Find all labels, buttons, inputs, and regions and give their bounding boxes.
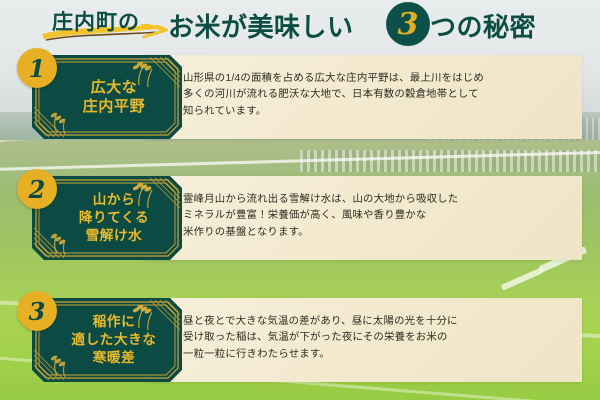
poster-header: 庄内町の お米が美味しい 3 つの秘密 bbox=[0, 0, 600, 52]
headline-tail: つの秘密 bbox=[430, 7, 536, 44]
secret-number-badge-3: 3 bbox=[17, 291, 57, 331]
secret-body-1: 山形県の1/4の面積を占める広大な庄内平野は、最上川をはじめ 多くの河川が流れる… bbox=[183, 71, 575, 120]
secret-count-badge: 3 bbox=[386, 2, 430, 46]
town-label: 庄内町の bbox=[52, 6, 140, 36]
secret-number-badge-1: 1 bbox=[17, 48, 57, 88]
secret-count-number: 3 bbox=[386, 2, 430, 46]
secret-body-2: 霊峰月山から流れ出る雪解け水は、山の大地から吸収した ミネラルが豊富！栄養価が高… bbox=[183, 192, 575, 241]
secret-number-badge-2: 2 bbox=[17, 169, 57, 209]
secret-body-3: 昼と夜とで大きな気温の差があり、昼に太陽の光を十分に 受け取った稲は、気温が下が… bbox=[183, 314, 575, 363]
headline-lead: お米が美味しい bbox=[168, 7, 354, 44]
poster-stage: 庄内町の お米が美味しい 3 つの秘密 山形県の1/4の面積を占める広大な庄内平… bbox=[0, 0, 600, 400]
